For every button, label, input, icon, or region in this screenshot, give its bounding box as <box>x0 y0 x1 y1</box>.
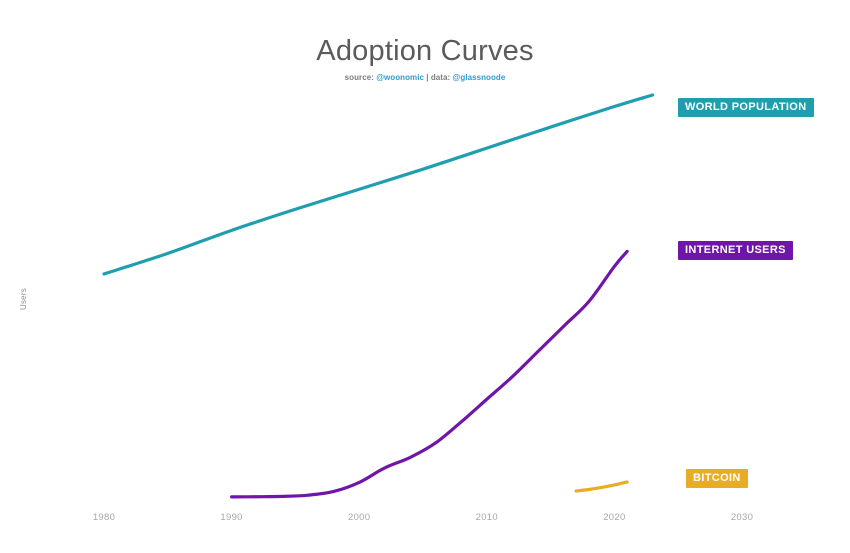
legend-badge-internet-users[interactable]: INTERNET USERS <box>678 241 793 260</box>
series-line-internet-users <box>232 251 628 496</box>
legend-badge-bitcoin[interactable]: BITCOIN <box>686 469 748 488</box>
x-tick-label-2000: 2000 <box>348 512 370 523</box>
x-tick-label-1980: 1980 <box>93 512 115 523</box>
x-tick-label-1990: 1990 <box>220 512 242 523</box>
x-tick-label-2030: 2030 <box>731 512 753 523</box>
y-axis-title: Users <box>19 270 28 310</box>
series-line-bitcoin <box>576 482 627 491</box>
adoption-curves-chart: Adoption Curves source: @woonomic | data… <box>0 0 850 553</box>
x-tick-label-2020: 2020 <box>603 512 625 523</box>
x-tick-label-2010: 2010 <box>476 512 498 523</box>
legend-badge-world-population[interactable]: WORLD POPULATION <box>678 98 814 117</box>
series-line-world-population <box>104 95 653 274</box>
